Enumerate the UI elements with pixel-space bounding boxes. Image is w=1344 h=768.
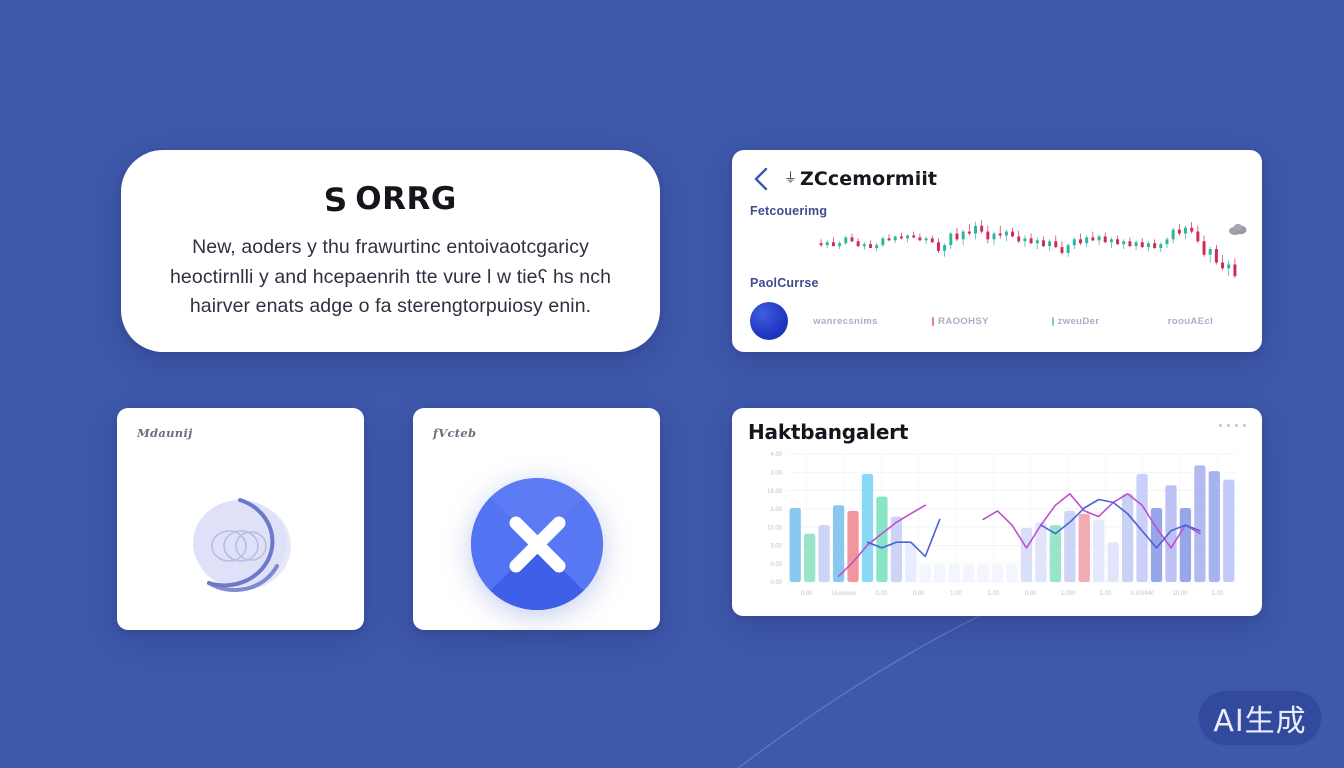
svg-text:1.00: 1.00: [950, 591, 962, 597]
legend-item-3[interactable]: roouAEcI: [1133, 316, 1248, 327]
avatar[interactable]: [750, 302, 788, 340]
hero-body-text: New, aoders y thu frawurtinc entoivaotcg…: [161, 233, 620, 322]
svg-text:0.00: 0.00: [913, 591, 925, 597]
svg-text:1.00: 1.00: [987, 591, 999, 597]
legend-item-2[interactable]: zweuDer: [1018, 316, 1133, 327]
mini-card-xmark[interactable]: fVcteb: [413, 408, 660, 630]
bar-chart-title: Haktbangalert: [748, 420, 1246, 444]
dot-3: [1235, 424, 1238, 427]
mini-card-2-label: fVcteb: [433, 426, 640, 440]
dot-1: [1219, 424, 1222, 427]
legend-marker-2-icon: [1052, 317, 1054, 326]
mini-card-2-artwork: [413, 464, 660, 624]
legend-label-1: RAOOHSY: [938, 316, 989, 327]
logo-mark-icon: S: [323, 183, 348, 217]
svg-text:10.00: 10.00: [767, 525, 783, 531]
candlestick-legend: wanrecsnims RAOOHSY zweuDer roouAEcI: [750, 300, 1248, 342]
legend-item-1[interactable]: RAOOHSY: [903, 316, 1018, 327]
svg-text:Uuonoos: Uuonoos: [832, 591, 856, 597]
bar-chart-card: Haktbangalert 4.003.0018.001.0010.003.00…: [732, 408, 1262, 616]
svg-text:1.000: 1.000: [1060, 591, 1076, 597]
dot-4: [1243, 424, 1246, 427]
svg-text:18.00: 18.00: [767, 489, 783, 495]
candlestick-title: ZCcemormiit: [800, 168, 937, 190]
logo-wordmark: ORRG: [355, 181, 457, 217]
svg-text:0.00: 0.00: [1025, 591, 1037, 597]
dot-2: [1227, 424, 1230, 427]
dots-menu-icon[interactable]: [1219, 424, 1246, 427]
svg-text:10.00: 10.00: [1172, 591, 1188, 597]
title-glyph-icon: ⏚: [784, 167, 797, 186]
legend-label-0: wanrecsnims: [813, 316, 878, 327]
chevron-left-icon[interactable]: [750, 166, 772, 192]
mini-card-1-artwork: [117, 464, 364, 624]
cloud-icon: [1228, 222, 1248, 236]
ai-generated-watermark-badge: AI生成: [1198, 690, 1322, 746]
svg-text:3.00: 3.00: [770, 470, 782, 476]
hero-line-1: New, aoders y thu frawurtinc entoivaotcg…: [161, 233, 620, 263]
x-mark-circle-icon: [470, 477, 604, 611]
candlestick-header: ⏚ ZCcemormiit: [750, 164, 1244, 194]
svg-text:0.00: 0.00: [770, 562, 782, 568]
legend-label-3: roouAEcI: [1168, 316, 1213, 327]
bar-chart-plot[interactable]: 4.003.0018.001.0010.003.000.000.000.00Uu…: [744, 448, 1250, 608]
svg-text:0.00: 0.00: [801, 591, 813, 597]
hero-line-2: heoctirnlli y and hcepaenrih tte vure l …: [161, 263, 620, 293]
hero-line-3: hairver enats adge ο fa sterengtorpuiosy…: [161, 292, 620, 322]
legend-marker-1-icon: [932, 317, 934, 326]
svg-text:1.00: 1.00: [1211, 591, 1223, 597]
hero-card: S ORRG New, aoders y thu frawurtinc ento…: [121, 150, 660, 352]
mini-card-1-label: Mdaunij: [137, 426, 344, 440]
candlestick-card: ⏚ ZCcemormiit Fetcouerimg PaolCurrse wan…: [732, 150, 1262, 352]
hero-logo: S ORRG: [324, 178, 457, 219]
candlestick-price-label: PaolCurrse: [750, 276, 819, 290]
svg-text:4.00: 4.00: [770, 452, 782, 458]
page-root: S ORRG New, aoders y thu frawurtinc ento…: [0, 0, 1344, 768]
svg-text:0.00/440: 0.00/440: [1131, 591, 1155, 597]
candlestick-chart[interactable]: [818, 216, 1238, 282]
svg-text:1.00: 1.00: [1099, 591, 1111, 597]
svg-text:0.00: 0.00: [875, 591, 887, 597]
svg-text:1.00: 1.00: [770, 507, 782, 513]
legend-item-0[interactable]: wanrecsnims: [788, 316, 903, 327]
svg-text:3.00: 3.00: [770, 544, 782, 550]
ring-circle-icon: [181, 488, 301, 600]
legend-label-2: zweuDer: [1058, 316, 1100, 327]
svg-text:0.00: 0.00: [770, 580, 782, 586]
mini-card-ring[interactable]: Mdaunij: [117, 408, 364, 630]
